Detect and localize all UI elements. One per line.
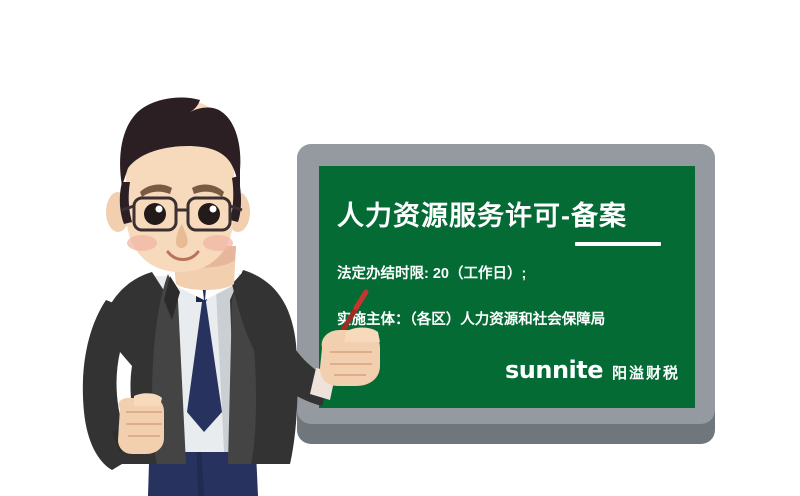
- eye-left: [144, 203, 166, 225]
- eye-left-highlight: [156, 206, 163, 213]
- lapel-left: [152, 274, 186, 464]
- tie: [187, 288, 222, 432]
- trousers: [148, 430, 258, 496]
- collar-left: [168, 266, 204, 300]
- neck-shadow: [172, 246, 236, 268]
- eyebrow-right: [192, 185, 224, 197]
- character-body: [95, 266, 298, 496]
- board-line-processing-time: 法定办结时限: 20（工作日）;: [337, 262, 526, 283]
- left-cuff: [112, 418, 152, 452]
- jacket-left: [95, 272, 170, 464]
- jacket-right: [230, 270, 298, 464]
- blush-right: [203, 235, 233, 251]
- mouth: [168, 252, 198, 260]
- character-ears: [106, 192, 250, 232]
- title-underline: [575, 242, 661, 246]
- lapel-right: [228, 274, 256, 464]
- ear-right: [226, 192, 250, 232]
- character-head: [120, 98, 242, 272]
- blush-left: [127, 235, 157, 251]
- tie-knot-shadow: [196, 288, 204, 302]
- sideburn-right: [230, 176, 241, 222]
- brand-logo-chinese: 阳溢财税: [612, 362, 680, 383]
- shirt-shadow: [216, 276, 252, 452]
- eye-right-highlight: [210, 206, 217, 213]
- collar-right: [205, 266, 240, 300]
- board-line-authority: 实施主体：（各区）人力资源和社会保障局: [337, 308, 605, 329]
- glasses-icon: [122, 198, 242, 230]
- blackboard: 人力资源服务许可-备案 法定办结时限: 20（工作日）; 实施主体：（各区）人力…: [297, 144, 715, 444]
- left-hand: [118, 398, 164, 454]
- shirt: [150, 276, 252, 452]
- character-neck: [172, 246, 236, 290]
- face: [126, 100, 234, 272]
- neck: [172, 246, 236, 290]
- left-thumb: [134, 393, 162, 406]
- left-hand-fingers: [126, 412, 162, 436]
- jacket-shadow-left: [164, 276, 180, 320]
- left-sleeve: [83, 300, 142, 470]
- eyebrow-left: [140, 185, 172, 197]
- sideburn-left: [120, 182, 132, 224]
- character-left-arm: [83, 300, 164, 470]
- arm-gap: [117, 352, 142, 440]
- brand-logo: sunnite 阳溢财税: [505, 356, 680, 384]
- trousers-crease: [196, 430, 204, 496]
- eye-right: [198, 203, 220, 225]
- board-title: 人力资源服务许可-备案: [337, 194, 627, 233]
- nose: [176, 224, 188, 248]
- hair: [120, 98, 240, 196]
- brand-logo-wordmark: sunnite: [505, 356, 603, 384]
- ear-left: [106, 192, 130, 232]
- screenshot-canvas: 人力资源服务许可-备案 法定办结时限: 20（工作日）; 实施主体：（各区）人力…: [0, 0, 800, 496]
